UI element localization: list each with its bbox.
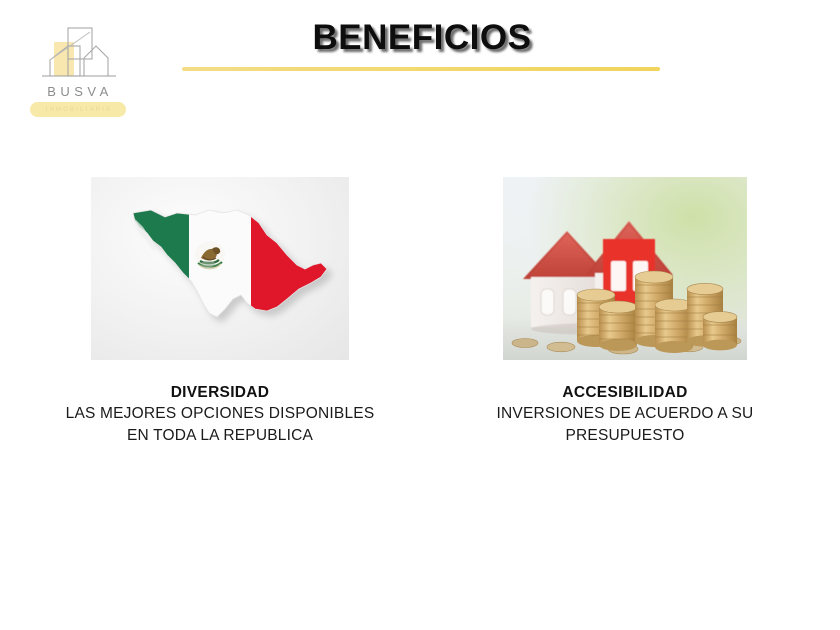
coin-stack-b-icon — [599, 301, 637, 351]
mexico-emblem-icon — [195, 241, 225, 269]
benefit-body-line-2: EN TODA LA REPUBLICA — [20, 425, 420, 446]
page-title: BENEFICIOS — [180, 18, 664, 58]
benefit-title: DIVERSIDAD — [20, 382, 420, 403]
brand-name: BUSVA — [28, 84, 128, 99]
benefit-title: ACCESIBILIDAD — [430, 382, 820, 403]
benefit-body-line-1: LAS MEJORES OPCIONES DISPONIBLES — [20, 403, 420, 424]
busva-building-logo-icon — [28, 24, 128, 86]
benefit-card-diversidad: DIVERSIDAD LAS MEJORES OPCIONES DISPONIB… — [20, 177, 420, 446]
mexico-map-flag-image — [91, 177, 349, 360]
title-underline-rule — [182, 67, 660, 71]
house-coins-image — [503, 177, 747, 360]
coin-stack-f-icon — [703, 312, 737, 351]
benefit-body-line-1: INVERSIONES DE ACUERDO A SU — [430, 403, 820, 424]
benefit-caption-accesibilidad: ACCESIBILIDAD INVERSIONES DE ACUERDO A S… — [430, 382, 820, 446]
benefit-caption-diversidad: DIVERSIDAD LAS MEJORES OPCIONES DISPONIB… — [20, 382, 420, 446]
benefit-card-accesibilidad: ACCESIBILIDAD INVERSIONES DE ACUERDO A S… — [430, 177, 820, 446]
benefit-body: INVERSIONES DE ACUERDO A SU PRESUPUESTO — [430, 403, 820, 446]
benefit-body-line-2: PRESUPUESTO — [430, 425, 820, 446]
brand-logo: BUSVA INMOBILIARIA — [28, 24, 128, 116]
brand-tagline-pill: INMOBILIARIA — [30, 102, 126, 117]
brand-tagline: INMOBILIARIA — [44, 107, 113, 113]
benefit-body: LAS MEJORES OPCIONES DISPONIBLES EN TODA… — [20, 403, 420, 446]
